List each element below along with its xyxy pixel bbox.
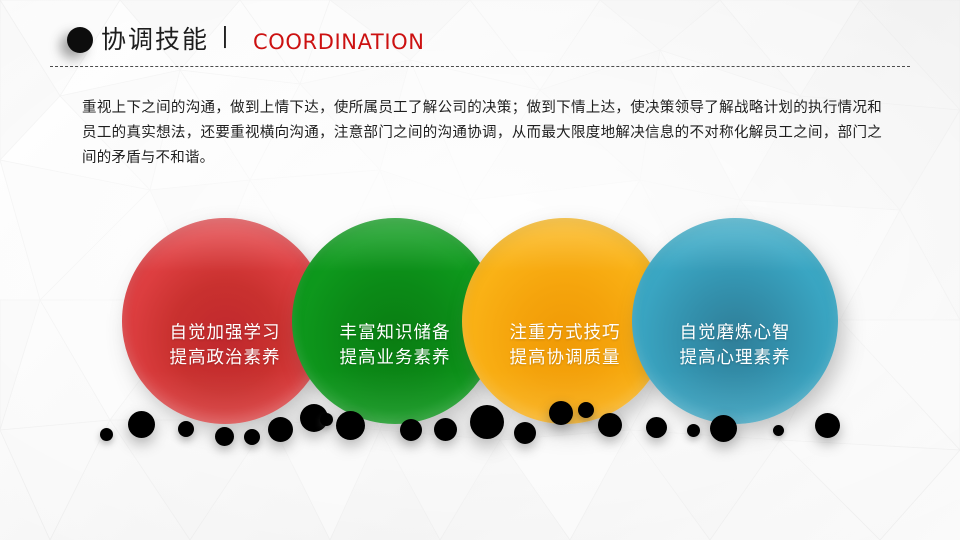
slide-canvas: 协调技能 丨 COORDINATION 重视上下之间的沟通，做到上情下达，使所属… [0,0,960,540]
decorative-dot [687,424,700,437]
decorative-dot [815,413,840,438]
decorative-dot [646,417,667,438]
decorative-dot [470,405,504,439]
decorative-dot [400,419,422,441]
decorative-dot [178,421,194,437]
decorative-dot [215,427,234,446]
decorative-dot [336,411,365,440]
decorative-dot [100,428,113,441]
decorative-dot [598,413,622,437]
decorative-dot [549,401,573,425]
decorative-dot [514,422,536,444]
decorative-dot [320,413,333,426]
decorative-dot [710,415,737,442]
decorative-dot [434,418,457,441]
decorative-dots [0,0,960,540]
decorative-dot [128,411,155,438]
decorative-dot [244,429,260,445]
decorative-dot [773,425,784,436]
decorative-dot [268,417,293,442]
decorative-dot [578,402,594,418]
